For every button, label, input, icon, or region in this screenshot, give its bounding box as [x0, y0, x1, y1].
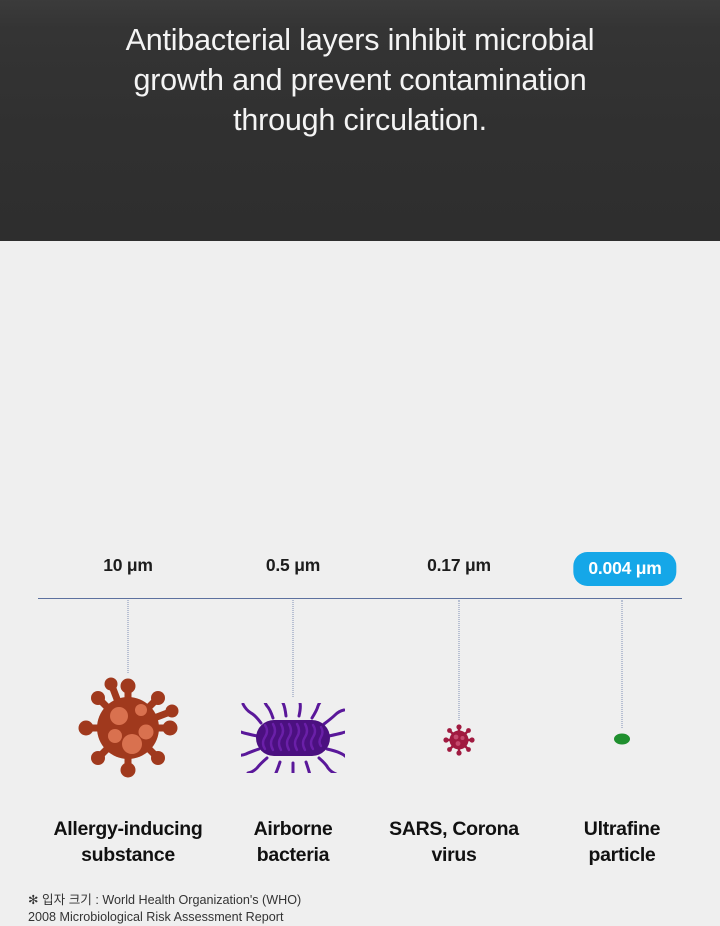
leader-line-bacteria: [293, 600, 294, 697]
leader-line-virus: [459, 600, 460, 720]
particle-size-chart: 10 μm 0.5 μm 0.17 μm 0.004 μm: [0, 241, 720, 720]
category-label-ultrafine: Ultrafine particle: [584, 816, 660, 868]
axis-baseline: [38, 598, 682, 599]
size-label-allergen: 10 μm: [103, 555, 153, 576]
category-label-allergen: Allergy-inducing substance: [53, 816, 202, 868]
header-banner: Antibacterial layers inhibit microbial g…: [0, 0, 720, 241]
size-label-ultrafine-badge: 0.004 μm: [573, 552, 676, 586]
category-label-virus: SARS, Corona virus: [389, 816, 519, 868]
size-label-virus: 0.17 μm: [427, 555, 491, 576]
leader-line-allergen: [128, 600, 129, 673]
size-label-bacteria: 0.5 μm: [266, 555, 320, 576]
leader-line-ultrafine: [622, 600, 623, 728]
bacteria-rod-icon: [241, 703, 345, 773]
category-label-bacteria: Airborne bacteria: [254, 816, 333, 868]
virus-small-icon: [442, 723, 476, 757]
particle-dot-icon: [612, 732, 632, 746]
source-footnote: ✻ 입자 크기 : World Health Organization's (W…: [28, 892, 301, 926]
page-title: Antibacterial layers inhibit microbial g…: [0, 20, 720, 140]
virus-spiked-icon: [74, 674, 182, 782]
